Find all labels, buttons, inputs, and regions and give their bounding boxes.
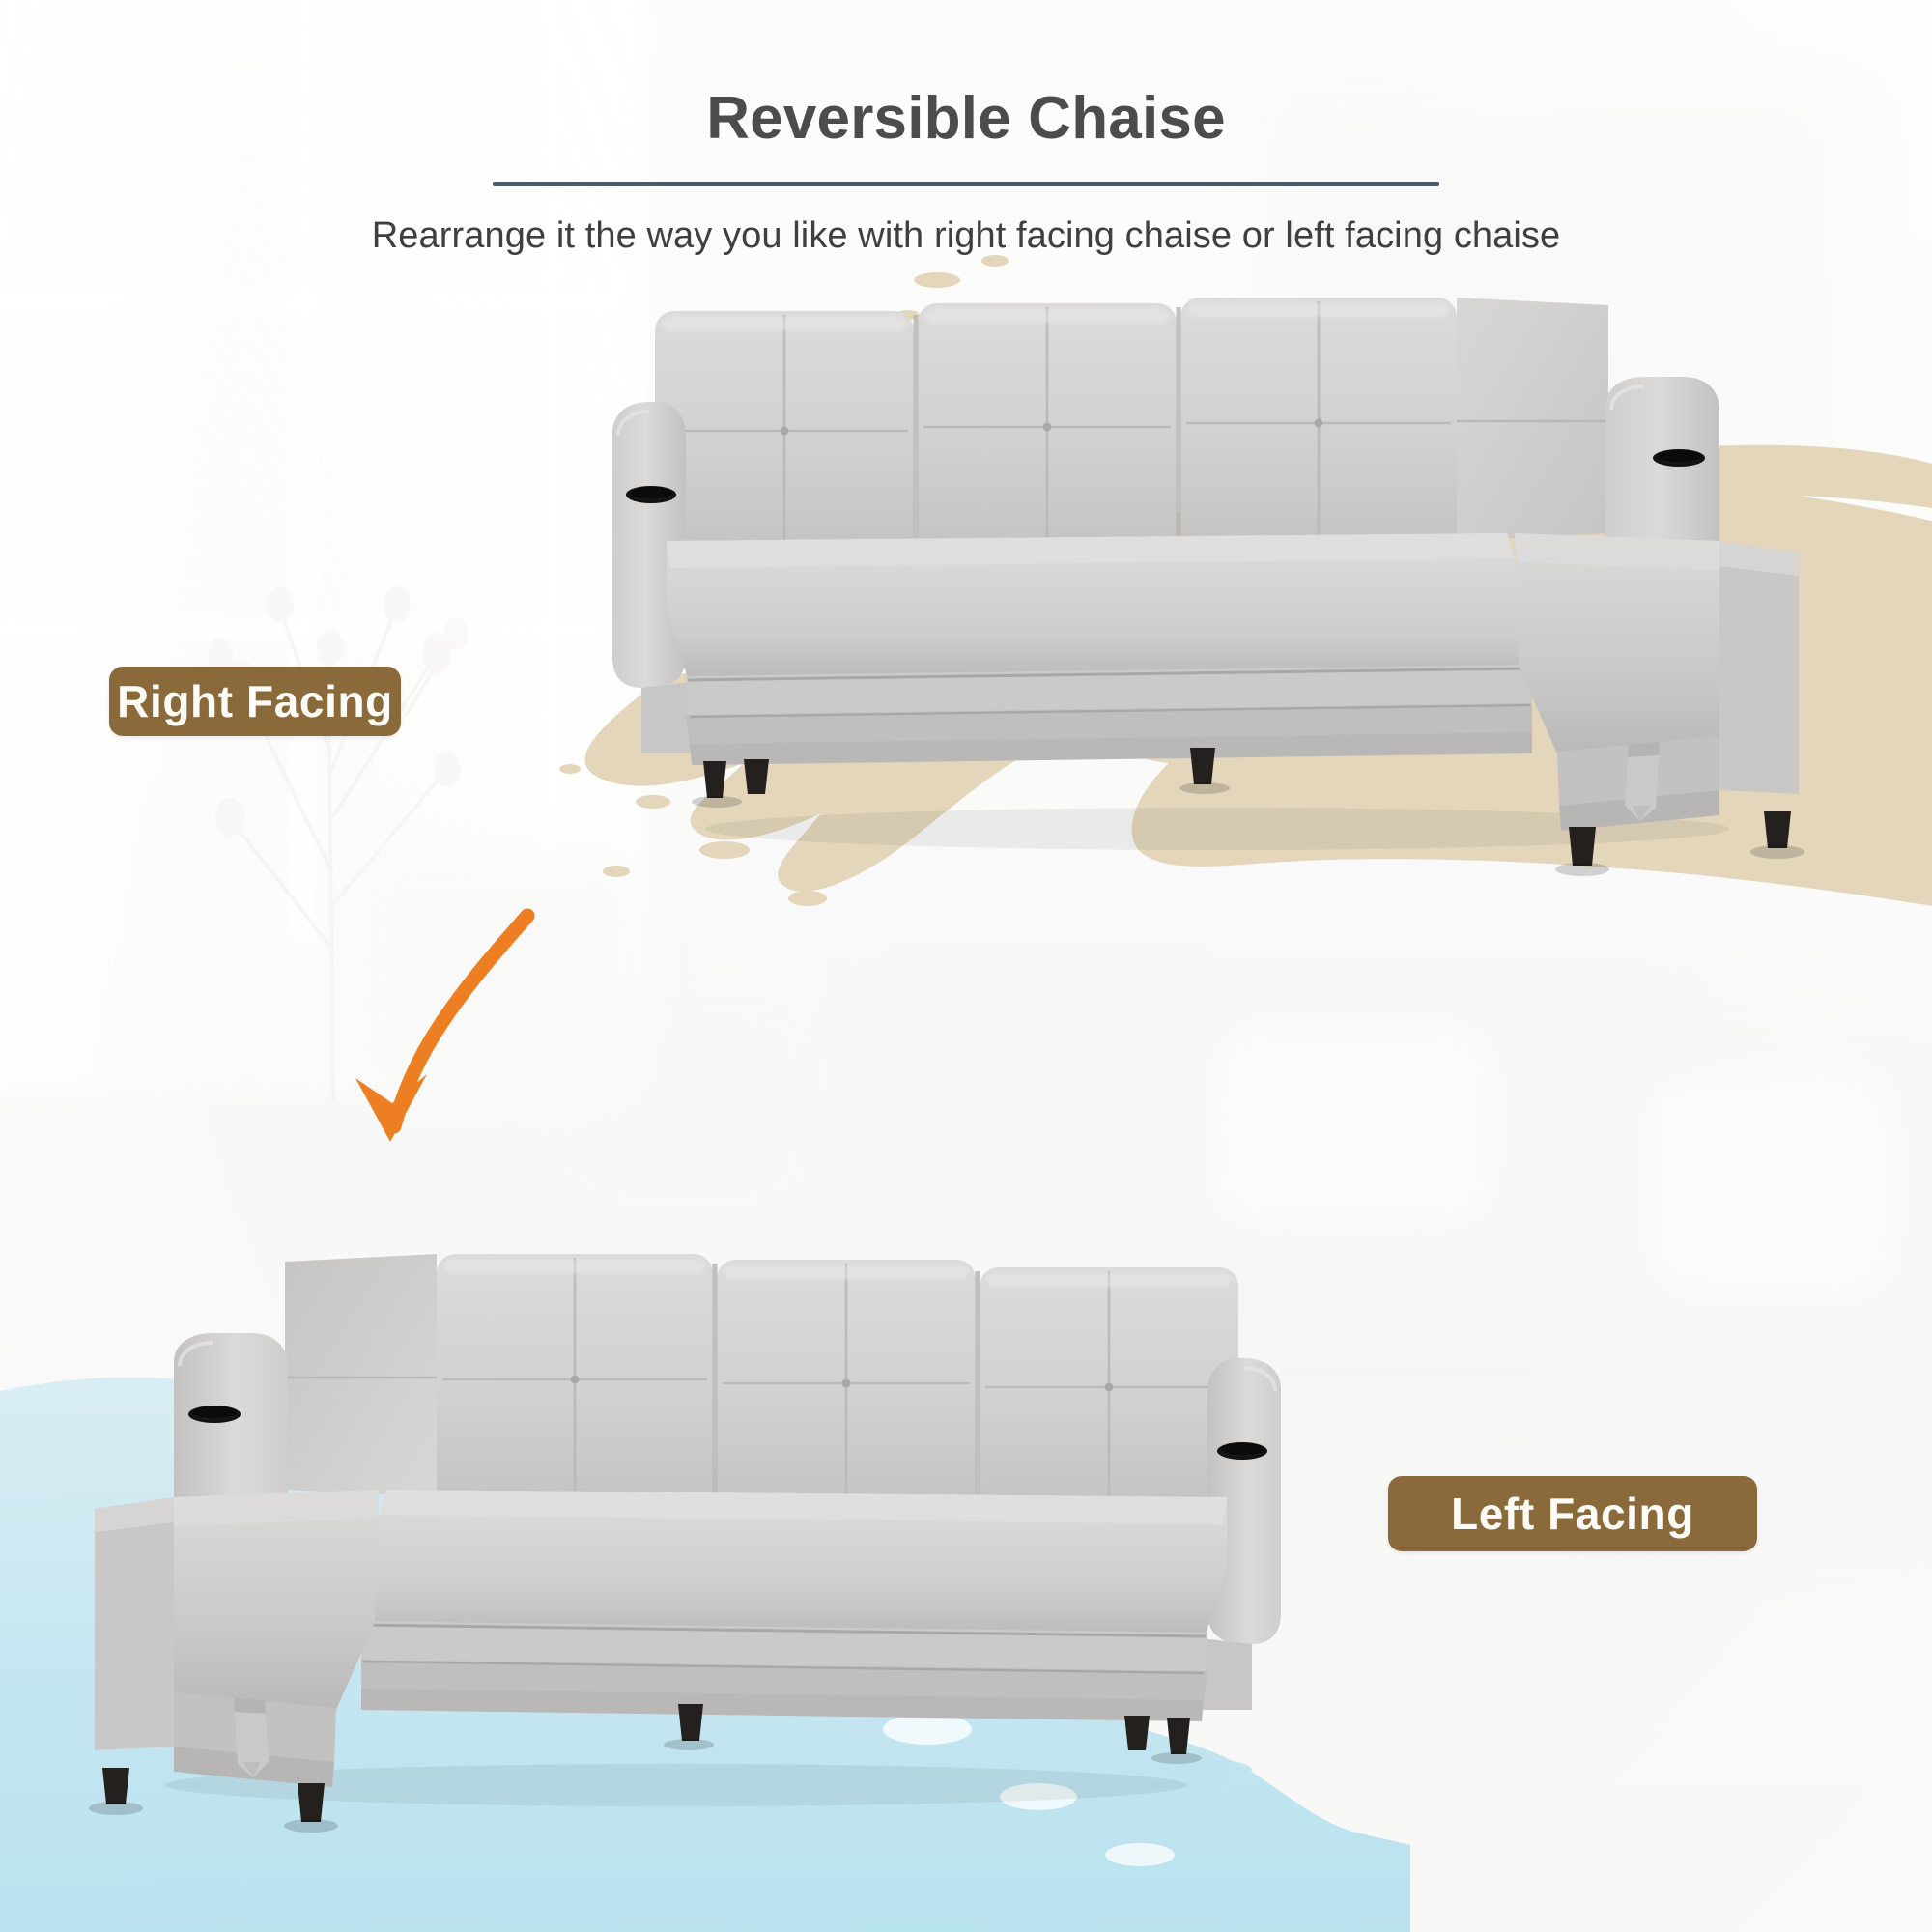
product-image-right-facing xyxy=(599,251,1874,869)
infographic-canvas: Reversible Chaise Rearrange it the way y… xyxy=(0,0,1932,1932)
header: Reversible Chaise Rearrange it the way y… xyxy=(0,0,1932,257)
badge-right-facing[interactable]: Right Facing xyxy=(109,667,401,736)
chaise-section xyxy=(95,1490,379,1787)
seat-cushion xyxy=(667,533,1534,765)
badge-right-facing-label: Right Facing xyxy=(117,675,393,727)
chaise-back-panel xyxy=(285,1254,437,1497)
curved-down-arrow-icon xyxy=(319,898,609,1169)
page-title: Reversible Chaise xyxy=(0,0,1932,149)
badge-left-facing-label: Left Facing xyxy=(1451,1488,1694,1540)
chaise-back-panel xyxy=(1457,298,1608,541)
chaise-section xyxy=(1515,533,1799,831)
title-divider xyxy=(493,182,1439,186)
seat-cushion xyxy=(359,1490,1227,1721)
product-image-left-facing xyxy=(19,1207,1294,1826)
back-cushions xyxy=(437,1254,1238,1509)
back-cushions xyxy=(655,298,1457,553)
badge-left-facing[interactable]: Left Facing xyxy=(1388,1476,1757,1551)
